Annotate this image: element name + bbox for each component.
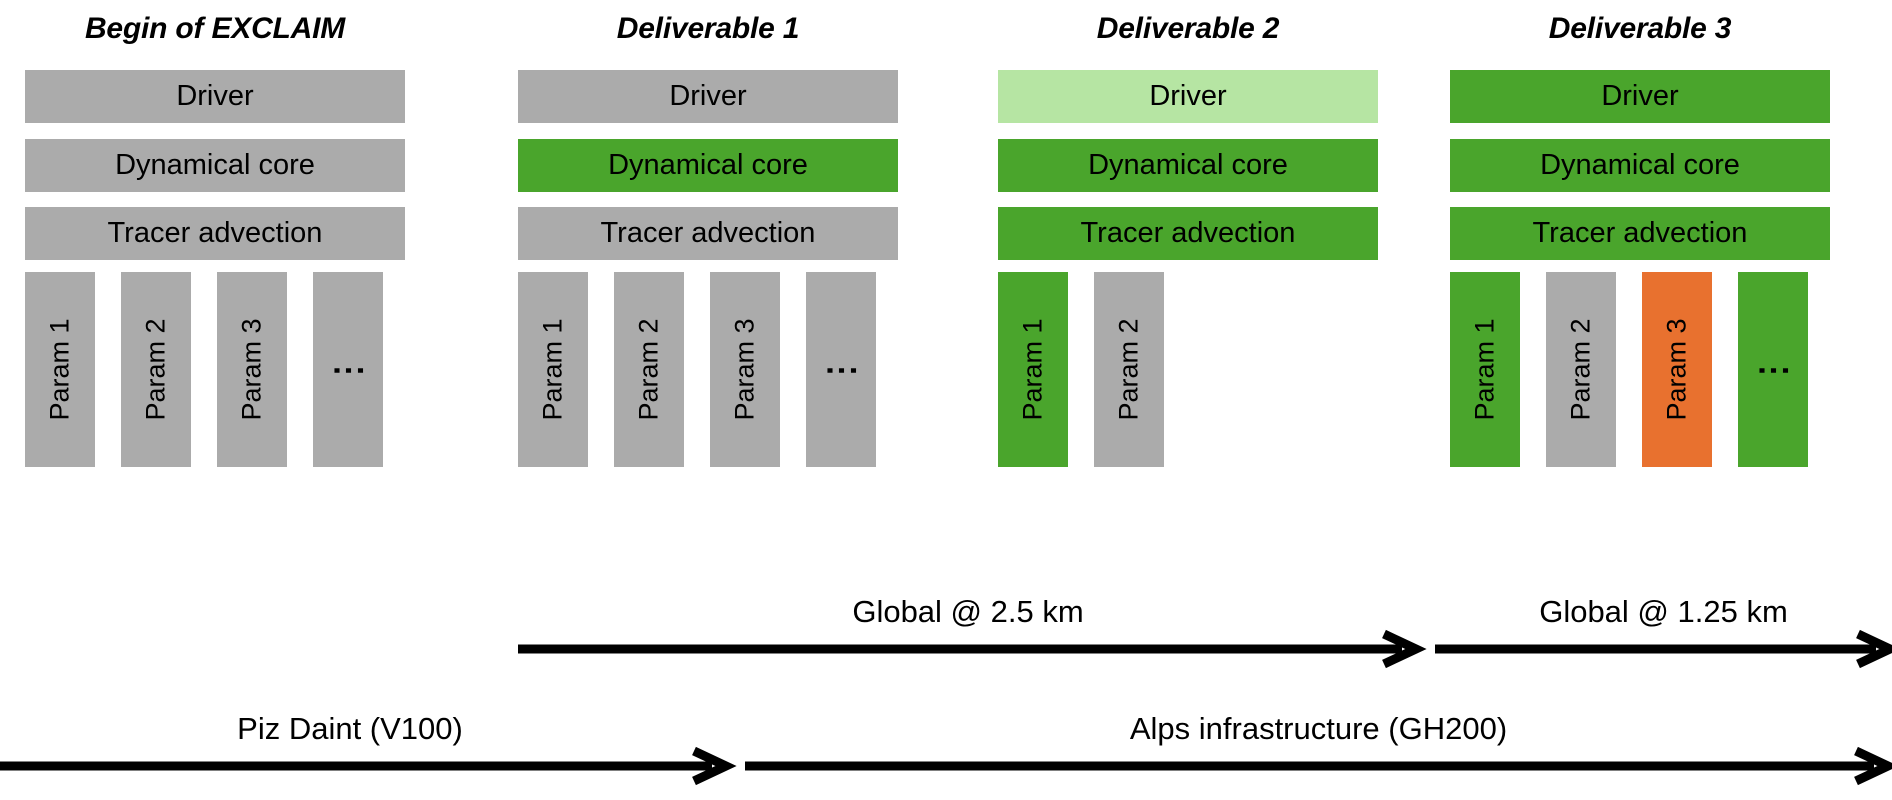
infrastructure-arrow-label-2: Alps infrastructure (GH200) (745, 713, 1892, 744)
layer-label: Dynamical core (1088, 151, 1288, 180)
param-label: ⋮ (1756, 352, 1790, 387)
param-label: Param 1 (540, 318, 567, 420)
param-box[interactable]: Param 2 (121, 272, 191, 467)
infrastructure-arrow-2 (745, 751, 1892, 781)
layer-label: Driver (1601, 82, 1678, 111)
param-label: Param 3 (732, 318, 759, 420)
layer-driver[interactable]: Driver (998, 70, 1378, 123)
param-label: Param 3 (1664, 318, 1691, 420)
layer-dynamical-core[interactable]: Dynamical core (25, 139, 405, 192)
column-deliverable-1: Deliverable 1 Driver Dynamical core Trac… (518, 0, 898, 480)
layer-tracer-advection[interactable]: Tracer advection (25, 207, 405, 260)
resolution-arrow-2 (1435, 634, 1892, 664)
param-label: ⋮ (824, 352, 858, 387)
param-label: ⋮ (331, 352, 365, 387)
param-label: Param 2 (1568, 318, 1595, 420)
layer-driver[interactable]: Driver (518, 70, 898, 123)
layer-label: Driver (669, 82, 746, 111)
resolution-arrow-label-2: Global @ 1.25 km (1435, 596, 1892, 627)
param-box[interactable]: Param 1 (25, 272, 95, 467)
layer-label: Tracer advection (1081, 219, 1296, 248)
param-label: Param 1 (47, 318, 74, 420)
param-label: Param 1 (1020, 318, 1047, 420)
infrastructure-arrow-1 (0, 751, 730, 781)
resolution-arrow-label-1: Global @ 2.5 km (518, 596, 1418, 627)
column-title: Deliverable 3 (1450, 14, 1830, 44)
layer-driver[interactable]: Driver (25, 70, 405, 123)
column-deliverable-3: Deliverable 3 Driver Dynamical core Trac… (1450, 0, 1830, 480)
column-deliverable-2: Deliverable 2 Driver Dynamical core Trac… (998, 0, 1378, 480)
layer-dynamical-core[interactable]: Dynamical core (518, 139, 898, 192)
param-label: Param 2 (636, 318, 663, 420)
column-begin-of-exclaim: Begin of EXCLAIM Driver Dynamical core T… (25, 0, 405, 480)
layer-label: Driver (176, 82, 253, 111)
param-label: Param 3 (239, 318, 266, 420)
column-title: Deliverable 1 (518, 14, 898, 44)
param-label: Param 2 (1116, 318, 1143, 420)
layer-label: Tracer advection (1533, 219, 1748, 248)
resolution-arrow-1 (518, 634, 1418, 664)
layer-dynamical-core[interactable]: Dynamical core (1450, 139, 1830, 192)
param-box[interactable]: Param 1 (998, 272, 1068, 467)
layer-dynamical-core[interactable]: Dynamical core (998, 139, 1378, 192)
param-box[interactable]: Param 3 (710, 272, 780, 467)
layer-tracer-advection[interactable]: Tracer advection (998, 207, 1378, 260)
param-box[interactable]: Param 1 (1450, 272, 1520, 467)
param-row: Param 1 Param 2 Param 3 ⋮ (25, 272, 405, 467)
param-label: Param 2 (143, 318, 170, 420)
param-box[interactable]: Param 3 (217, 272, 287, 467)
layer-label: Dynamical core (1540, 151, 1740, 180)
param-box[interactable]: Param 1 (518, 272, 588, 467)
param-box-ellipsis[interactable]: ⋮ (313, 272, 383, 467)
param-row: Param 1 Param 2 Param 3 ⋮ (1450, 272, 1830, 467)
layer-label: Dynamical core (115, 151, 315, 180)
param-row: Param 1 Param 2 Param 3 ⋮ (518, 272, 898, 467)
layer-tracer-advection[interactable]: Tracer advection (518, 207, 898, 260)
layer-label: Tracer advection (108, 219, 323, 248)
infrastructure-arrow-label-1: Piz Daint (V100) (0, 713, 700, 744)
layer-label: Dynamical core (608, 151, 808, 180)
param-box-ellipsis[interactable]: ⋮ (806, 272, 876, 467)
param-box[interactable]: Param 2 (614, 272, 684, 467)
param-box[interactable]: Param 2 (1546, 272, 1616, 467)
layer-label: Tracer advection (601, 219, 816, 248)
param-label: Param 1 (1472, 318, 1499, 420)
layer-label: Driver (1149, 82, 1226, 111)
param-box[interactable]: Param 3 (1642, 272, 1712, 467)
layer-driver[interactable]: Driver (1450, 70, 1830, 123)
column-title: Deliverable 2 (998, 14, 1378, 44)
param-box-ellipsis[interactable]: ⋮ (1738, 272, 1808, 467)
layer-tracer-advection[interactable]: Tracer advection (1450, 207, 1830, 260)
param-box[interactable]: Param 2 (1094, 272, 1164, 467)
column-title: Begin of EXCLAIM (25, 14, 405, 44)
param-row: Param 1 Param 2 (998, 272, 1378, 467)
